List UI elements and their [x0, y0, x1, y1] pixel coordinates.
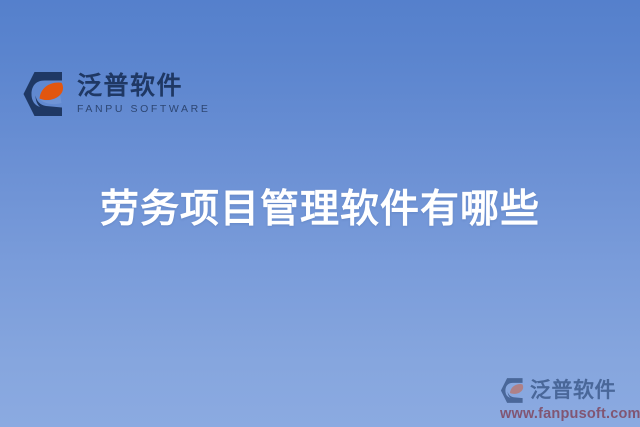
brand-text-group: 泛普软件 FANPU SOFTWARE [77, 73, 210, 115]
banner-canvas: 泛普软件 FANPU SOFTWARE 劳务项目管理软件有哪些 泛普软件 www… [0, 0, 640, 427]
brand-logo: 泛普软件 FANPU SOFTWARE [22, 70, 210, 118]
watermark-company-name: 泛普软件 [530, 380, 616, 401]
fanpu-hexagon-sail-logo-watermark-icon [500, 377, 526, 404]
brand-company-name-cn: 泛普软件 [77, 73, 210, 99]
watermark-url: www.fanpusoft.com [500, 407, 636, 422]
brand-company-name-en: FANPU SOFTWARE [77, 104, 210, 115]
watermark: 泛普软件 www.fanpusoft.com [500, 377, 636, 422]
page-title: 劳务项目管理软件有哪些 [0, 186, 640, 235]
watermark-logo-row: 泛普软件 [500, 377, 636, 404]
fanpu-hexagon-sail-logo-icon [22, 70, 68, 118]
